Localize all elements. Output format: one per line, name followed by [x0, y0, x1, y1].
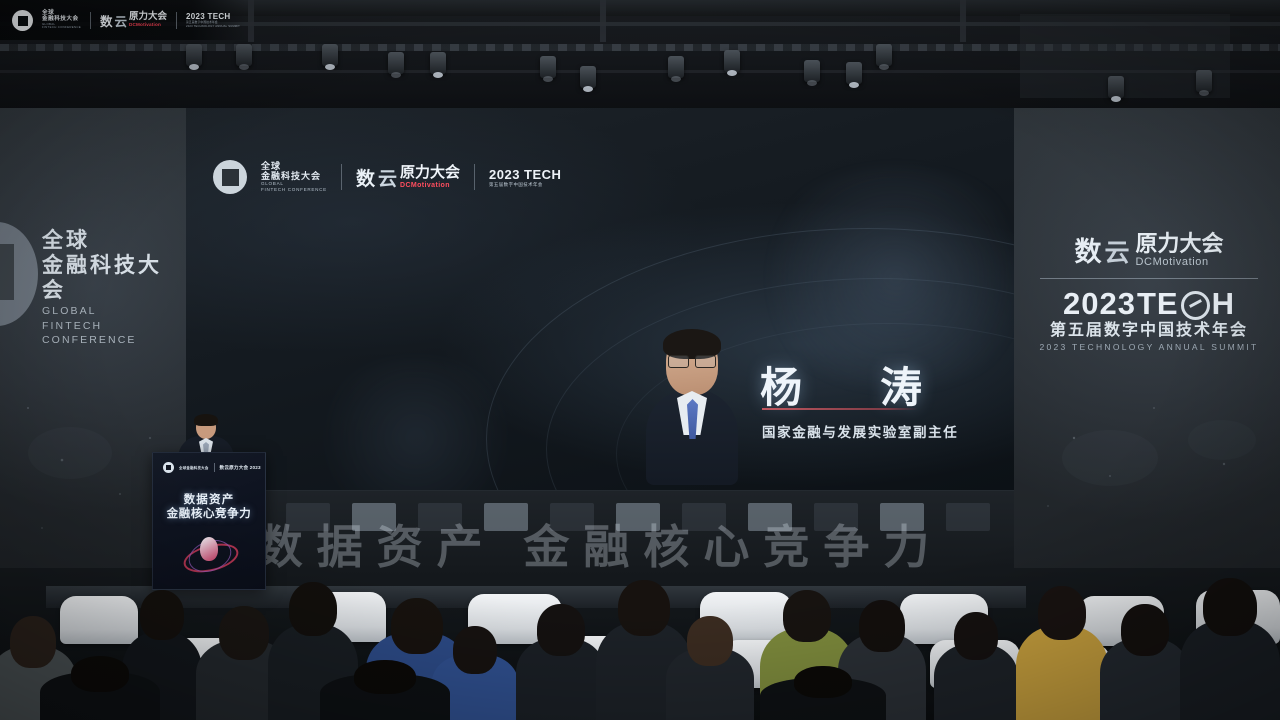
screen-yuanli: 原力大会: [400, 165, 460, 181]
screen-sub-cn: 第五届数字中国技术年会: [489, 182, 561, 188]
speaker-name-rule: [762, 408, 918, 410]
fintech-logo-mark-icon: [0, 222, 38, 326]
right-wall-dcmotivation: DCMotivation: [1136, 256, 1224, 269]
podium-logo-lockup: 全球金融科技大会 数云原力大会 2023: [163, 462, 261, 473]
logo-divider: [176, 12, 177, 29]
audience-member: [1100, 604, 1190, 720]
audience-member: [516, 604, 606, 720]
main-led-screen: 全球 金融科技大会 GLOBAL FINTECH CONFERENCE 数 云 …: [186, 108, 1014, 490]
audience-member: [40, 656, 160, 720]
audience-member: [666, 616, 754, 720]
screen-shu: 数: [356, 164, 375, 191]
stage-light: [876, 44, 892, 66]
audience-member: [1180, 578, 1280, 720]
right-wall-tech-year: 2023: [1063, 287, 1136, 320]
audience-member: [1016, 586, 1108, 720]
left-wall-cn-line2: 金融科技大会: [42, 253, 172, 303]
podium-headline-line2: 金融核心竞争力: [153, 505, 265, 521]
right-wall-yuanli: 原力大会: [1136, 231, 1224, 256]
stage-light: [846, 62, 862, 84]
screen-dcmotivation: DCMotivation: [400, 181, 460, 190]
fintech-logo-mark-icon: [163, 462, 174, 473]
logo-divider: [214, 463, 215, 472]
stage-light: [804, 60, 820, 82]
stage-light: [236, 44, 252, 66]
right-wall-divider: [1040, 278, 1258, 279]
audience-member: [320, 660, 450, 720]
screen-logo-lockup: 全球 金融科技大会 GLOBAL FINTECH CONFERENCE 数 云 …: [213, 160, 561, 194]
right-wall-cn-line: 第五届数字中国技术年会: [1034, 320, 1264, 341]
stage-light: [540, 56, 556, 78]
podium-logo-right-label: 数云原力大会 2023: [220, 465, 261, 471]
conference-stage-broadcast-frame: 全球 金融科技大会 GLOBAL FINTECH CONFERENCE 数 云 …: [0, 0, 1280, 720]
screen-year-tech: 2023 TECH: [489, 167, 561, 182]
left-wall-en-line2: FINTECH CONFERENCE: [42, 319, 172, 347]
ceiling-beam: [248, 0, 254, 42]
watermark-sub-en: 2023 TECHNOLOGY ANNUAL SUMMIT: [186, 25, 240, 28]
audience-member: [760, 666, 886, 720]
at-symbol-icon: [1181, 291, 1210, 320]
podium-logo-fintech-label: 全球金融科技大会: [179, 466, 209, 470]
logo-divider: [341, 164, 342, 190]
stage-light: [1108, 76, 1124, 98]
right-wall-tech-lockup: 2023 TE H: [1034, 287, 1264, 320]
watermark-dcmotivation: DCMotivation: [129, 22, 167, 27]
stage-light: [1196, 70, 1212, 92]
stage-light: [186, 44, 202, 66]
ceiling-beam: [600, 0, 606, 42]
watermark-yun: 云: [114, 11, 127, 30]
right-wall-brand: 数 云 原力大会 DCMotivation 2023 TE H 第五届数字中国技…: [1034, 230, 1264, 353]
left-wall-cn-line1: 全球: [42, 228, 172, 253]
right-wall-shu: 数: [1074, 230, 1102, 269]
right-wall-tech-te: TE: [1137, 287, 1179, 320]
ceiling-beam: [960, 0, 966, 42]
speaker-portrait: [646, 333, 738, 483]
stage-light: [388, 52, 404, 74]
screen-nebula-graphic: [306, 358, 526, 490]
stage-light: [580, 66, 596, 88]
left-wall-en-line1: GLOBAL: [42, 304, 172, 318]
right-wall-tech-h: H: [1212, 287, 1235, 320]
stage-light: [322, 44, 338, 66]
stage-light: [430, 52, 446, 74]
logo-divider: [90, 12, 91, 29]
screen-yun: 云: [378, 164, 397, 191]
right-wall-en-line: 2023 TECHNOLOGY ANNUAL SUMMIT: [1034, 341, 1264, 353]
watermark-year-tech: 2023 TECH: [186, 12, 240, 21]
watermark-shu: 数: [100, 11, 113, 30]
watermark-fintech-en-line2: FINTECH CONFERENCE: [42, 26, 81, 30]
screen-fintech-en-line2: FINTECH CONFERENCE: [261, 187, 327, 193]
fintech-logo-mark-icon: [12, 10, 33, 31]
fintech-logo-mark-icon: [213, 160, 247, 194]
screen-fintech-cn-line1: 全球: [261, 161, 327, 171]
stage-light: [668, 56, 684, 78]
audience-area: 中国民生银行 中国进出口银行 中信银行: [0, 520, 1280, 720]
speaker-name: 杨 涛: [760, 354, 940, 415]
watermark-yuanli: 原力大会: [129, 12, 167, 22]
broadcast-watermark-bar: 全球 金融科技大会 GLOBAL FINTECH CONFERENCE 数 云 …: [0, 0, 246, 40]
stage-light: [724, 50, 740, 72]
audience-member: [934, 612, 1018, 720]
right-wall-yun: 云: [1104, 233, 1129, 269]
logo-divider: [474, 164, 475, 190]
speaker-title: 国家金融与发展实验室副主任: [762, 421, 958, 441]
screen-fintech-cn-line2: 金融科技大会: [261, 171, 327, 181]
